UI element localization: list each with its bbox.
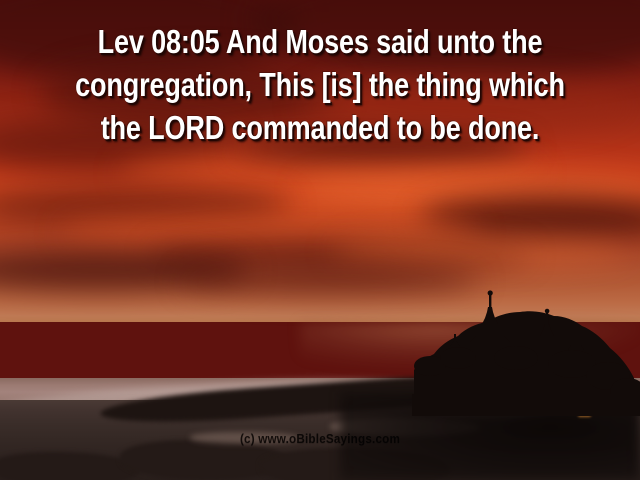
tanah-lot-temple-silhouette (412, 266, 640, 416)
rock-highlight (190, 432, 300, 444)
verse-image-canvas: Lev 08:05 And Moses said unto the congre… (0, 0, 640, 480)
